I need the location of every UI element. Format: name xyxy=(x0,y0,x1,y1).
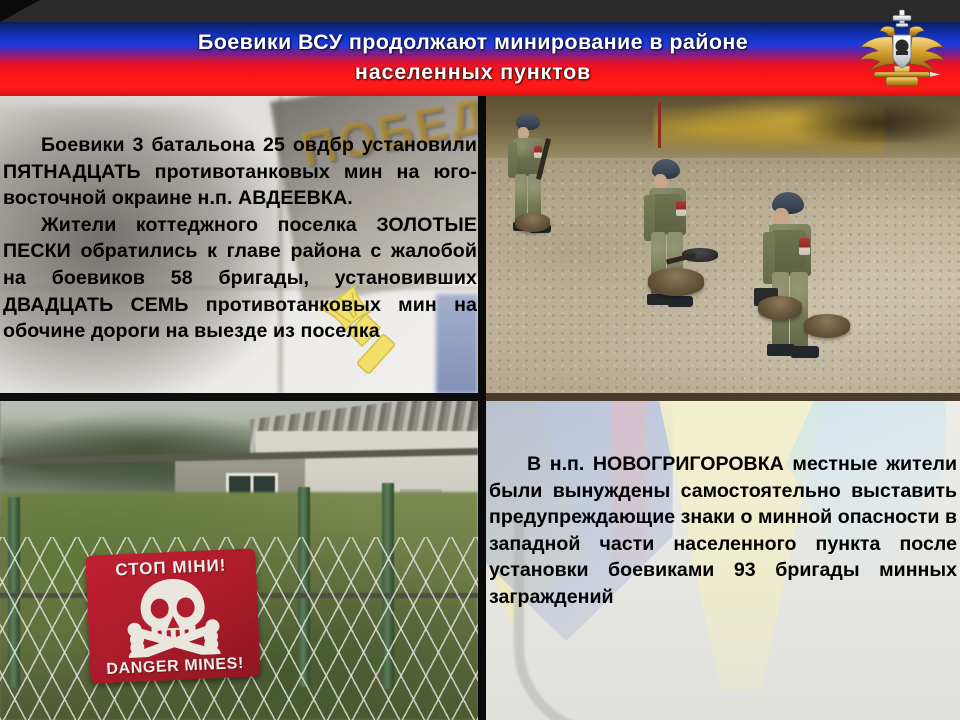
sign-bottom-text: DANGER MINES! xyxy=(90,654,261,679)
avdeevka-paragraph-2: Жители коттеджного поселка ЗОЛОТЫЕ ПЕСКИ… xyxy=(3,212,477,345)
avdeevka-paragraph-1: Боевики 3 батальона 25 овдбр установили … xyxy=(3,132,477,212)
soldier-arm xyxy=(508,142,517,178)
soldier-shoulder-patch xyxy=(676,201,686,216)
soldier-boot-right xyxy=(791,346,819,358)
anti-tank-mine xyxy=(648,268,704,296)
double-headed-eagle-emblem xyxy=(856,6,948,92)
mine-warning-sign: СТОП МІНИ! xyxy=(85,548,260,683)
anti-tank-mine-second xyxy=(804,314,850,338)
soldier-shoulder-patch xyxy=(799,238,810,255)
vertical-divider xyxy=(478,96,486,720)
avdeevka-text: Боевики 3 батальона 25 овдбр установили … xyxy=(3,132,477,345)
header-banner: Боевики ВСУ продолжают минирование в рай… xyxy=(0,0,960,96)
novogrigorovka-paragraph-1: В н.п. НОВОГРИГОРОВКА местные жители был… xyxy=(489,451,957,611)
text-panel-novogrigorovka: В н.п. НОВОГРИГОРОВКА местные жители был… xyxy=(486,397,960,720)
photo-dark-foliage xyxy=(786,96,960,142)
skull-and-crossbones-icon xyxy=(120,574,225,658)
anti-tank-mine xyxy=(515,213,550,232)
photo-marker-stake xyxy=(658,102,661,148)
slide-root: Боевики ВСУ продолжают минирование в рай… xyxy=(0,0,960,720)
village-photo: СТОП МІНИ! xyxy=(0,397,478,720)
text-panel-avdeevka: ПОБЕДА Боевики 3 батальона 25 овдбр уста… xyxy=(0,96,478,393)
page-title: Боевики ВСУ продолжают минирование в рай… xyxy=(118,27,828,87)
horizontal-divider-left xyxy=(0,393,478,401)
photo-mine-warning-sign: СТОП МІНИ! xyxy=(0,397,478,720)
photo-soldiers-carrying-mines xyxy=(486,96,960,393)
anti-tank-mine xyxy=(758,296,802,320)
header-top-strip xyxy=(0,0,960,22)
novogrigorovka-text: В н.п. НОВОГРИГОРОВКА местные жители был… xyxy=(489,451,957,611)
soldier-boot-right xyxy=(668,296,693,307)
photo-ground-texture xyxy=(486,158,960,393)
page-title-line-1: Боевики ВСУ продолжают минирование в рай… xyxy=(118,27,828,57)
header-corner-wedge xyxy=(0,0,40,22)
horizontal-divider-right xyxy=(486,393,960,401)
page-title-line-2: населенных пунктов xyxy=(118,57,828,87)
soldiers-photo xyxy=(486,96,960,393)
